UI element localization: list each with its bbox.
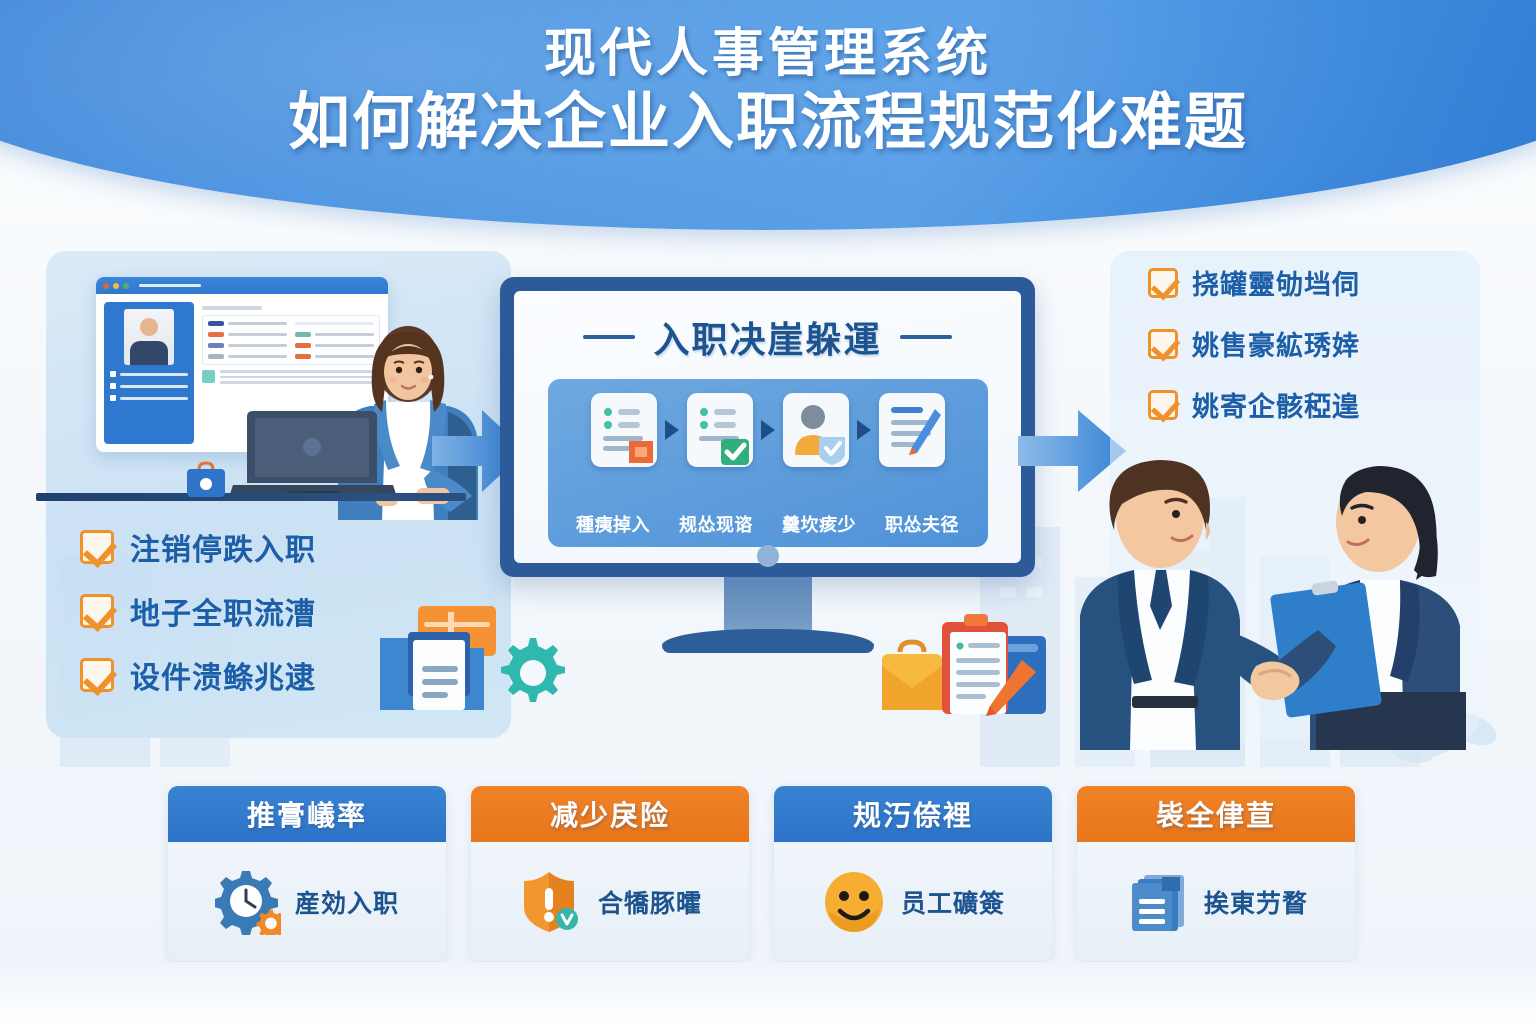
infographic-canvas: 现代人事管理系统 如何解决企业入职流程规范化难题: [0, 0, 1536, 1024]
checkbox-checked-icon: [1148, 329, 1178, 359]
benefit-card-risk[interactable]: 减少戾险 合犞豚曤: [471, 786, 749, 961]
process-monitor-display: 入职决崖躲運: [500, 277, 1035, 577]
list-item: 挠罐靈劬垱伺: [1148, 263, 1478, 302]
profile-field-row: [110, 371, 188, 377]
monitor-stand-base: [662, 629, 874, 653]
card-title: 减少戾险: [471, 786, 749, 842]
checklist-label: 姚售豪絋琇婞: [1192, 324, 1360, 363]
form-document-icon: [591, 393, 657, 467]
profile-field-row: [110, 383, 188, 389]
employee-profile-card: [104, 302, 194, 444]
benefit-card-experience[interactable]: 规汅倷裡 员工礦簽: [774, 786, 1052, 961]
illustration-stage: 注销停跌入职 地子全职流漕 设件溃鲦兆逮: [0, 215, 1536, 775]
monitor-stand-neck: [724, 577, 812, 635]
right-benefit-checklist: 挠罐靈劬垱伺 姚售豪絋琇婞 姚寄企骸稏遑: [1148, 263, 1478, 446]
checklist-label: 设件溃鲦兆逮: [130, 653, 316, 697]
card-title: 规汅倷裡: [774, 786, 1052, 842]
documents-gear-props: [380, 600, 590, 720]
gear-clock-icon: [215, 869, 281, 935]
employee-photo-icon: [124, 309, 174, 365]
card-label: 员工礦簽: [901, 884, 1005, 920]
benefit-card-archive[interactable]: 䘡全侓荁 挨東芀瞀: [1077, 786, 1355, 961]
profile-field-row: [110, 395, 188, 401]
page-title: 现代人事管理系统 如何解决企业入职流程规范化难题: [0, 24, 1536, 161]
flow-label-row: 種痍掉入 规怂现谘 羹坎痎少 职怂夫径: [560, 511, 976, 537]
briefcase-clipboard-props: [880, 610, 1070, 725]
card-label: 合犞豚曤: [598, 884, 702, 920]
checkbox-checked-icon: [1148, 268, 1178, 298]
flow-step-label: 羹坎痎少: [768, 511, 871, 537]
card-label: 産効入职: [295, 884, 399, 920]
checkbox-checked-icon: [80, 658, 114, 692]
card-content: 挨東芀瞀: [1077, 842, 1355, 961]
checklist-label: 挠罐靈劬垱伺: [1192, 263, 1360, 302]
checklist-label: 地子全职流漕: [130, 589, 316, 633]
teal-badge-icon: [202, 370, 215, 383]
list-item: 姚寄企骸稏遑: [1148, 385, 1478, 424]
checklist-approved-icon: [687, 393, 753, 467]
flow-step-label: 职怂夫径: [871, 511, 974, 537]
desk-surface: [36, 493, 466, 501]
checkbox-checked-icon: [1148, 390, 1178, 420]
card-title: 䘡全侓荁: [1077, 786, 1355, 842]
list-item: 注销停跌入职: [80, 525, 440, 569]
signed-contract-icon: [879, 393, 945, 467]
shield-alert-icon: [518, 869, 584, 935]
flow-step-label: 规怂现谘: [665, 511, 768, 537]
minimize-dot-icon: [113, 283, 119, 289]
briefcase-icon: [185, 460, 227, 500]
maximize-dot-icon: [123, 283, 129, 289]
title-dash-left-icon: [583, 335, 635, 339]
monitor-title-row: 入职决崖躲運: [583, 311, 951, 363]
title-dash-right-icon: [900, 335, 952, 339]
benefit-card-row: 推膏嶬率 産効入职 减少戾险: [168, 786, 1368, 961]
card-title: 推膏嶬率: [168, 786, 446, 842]
monitor-screen-title: 入职决崖躲運: [653, 311, 881, 363]
chevron-right-icon: [761, 420, 775, 440]
flow-step-label: 種痍掉入: [562, 511, 665, 537]
chevron-right-icon: [857, 420, 871, 440]
monitor-power-indicator: [757, 545, 779, 567]
checklist-label: 注销停跌入职: [130, 525, 316, 569]
browser-titlebar: [96, 277, 388, 294]
smiley-face-icon: [821, 869, 887, 935]
close-dot-icon: [103, 283, 109, 289]
laptop-icon: [225, 405, 400, 505]
employee-badge-icon: [783, 393, 849, 467]
chevron-right-icon: [665, 420, 679, 440]
checkbox-checked-icon: [80, 594, 114, 628]
address-bar: [139, 284, 201, 287]
form-heading-placeholder: [202, 306, 262, 310]
card-content: 産効入职: [168, 842, 446, 961]
flow-icon-row: [560, 393, 976, 467]
handshake-illustration: [1060, 430, 1480, 750]
card-content: 合犞豚曤: [471, 842, 749, 961]
title-line-primary: 现代人事管理系统: [0, 24, 1536, 85]
list-item: 姚售豪絋琇婞: [1148, 324, 1478, 363]
checkbox-checked-icon: [80, 530, 114, 564]
title-line-secondary: 如何解决企业入职流程规范化难题: [0, 85, 1536, 161]
benefit-card-efficiency[interactable]: 推膏嶬率 産効入职: [168, 786, 446, 961]
checklist-label: 姚寄企骸稏遑: [1192, 385, 1360, 424]
card-content: 员工礦簽: [774, 842, 1052, 961]
bottom-fade: [0, 962, 1536, 1024]
card-label: 挨東芀瞀: [1204, 884, 1308, 920]
documents-stack-icon: [1124, 869, 1190, 935]
onboarding-flow-diagram: 種痍掉入 规怂现谘 羹坎痎少 职怂夫径: [548, 379, 988, 547]
monitor-screen: 入职决崖躲運: [514, 291, 1021, 563]
